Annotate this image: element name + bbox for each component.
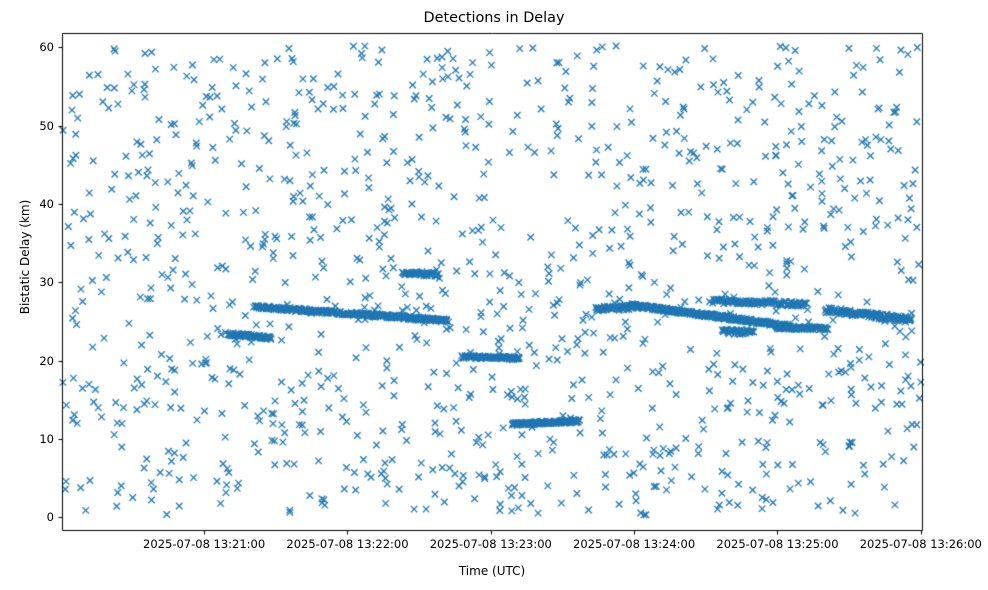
scatter-plot-canvas[interactable]: [0, 0, 988, 590]
matplotlib-figure: Detections in Delay Time (UTC) Bistatic …: [0, 0, 988, 590]
